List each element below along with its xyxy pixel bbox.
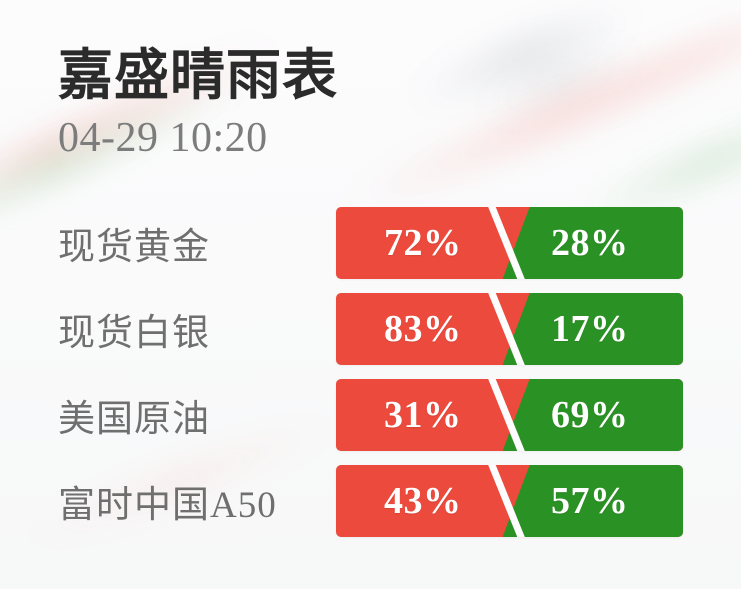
sentiment-bar[interactable]: 43% 57% xyxy=(336,465,683,537)
sentiment-bar[interactable]: 72% 28% xyxy=(336,207,683,279)
bearish-percent-value: 31% xyxy=(384,379,462,451)
list-item[interactable]: 现货黄金 72% 28% xyxy=(0,207,741,279)
page-title: 嘉盛晴雨表 xyxy=(58,44,338,108)
bullish-percent-value: 69% xyxy=(551,379,629,451)
instrument-label: 现货黄金 xyxy=(58,207,210,279)
bullish-percent-value: 57% xyxy=(551,465,629,537)
card-header: 嘉盛晴雨表 04-29 10:20 xyxy=(58,44,338,162)
bullish-percent-value: 17% xyxy=(551,293,629,365)
instrument-label: 富时中国A50 xyxy=(58,465,277,537)
instrument-label: 现货白银 xyxy=(58,293,210,365)
watermark-red-streak-icon xyxy=(335,0,741,222)
sentiment-bar[interactable]: 31% 69% xyxy=(336,379,683,451)
list-item[interactable]: 富时中国A50 43% 57% xyxy=(0,465,741,537)
list-item[interactable]: 现货白银 83% 17% xyxy=(0,293,741,365)
watermark-gray-streak-icon xyxy=(403,0,648,118)
update-timestamp: 04-29 10:20 xyxy=(58,114,338,162)
bearish-percent-value: 83% xyxy=(384,293,462,365)
bearish-percent-value: 72% xyxy=(384,207,462,279)
sentiment-barometer-card: 嘉盛晴雨表 04-29 10:20 现货黄金 72% 28% 现货白银 83% … xyxy=(0,0,741,589)
bearish-percent-value: 43% xyxy=(384,465,462,537)
watermark-gray-streak-icon xyxy=(472,37,648,127)
sentiment-bar[interactable]: 83% 17% xyxy=(336,293,683,365)
bullish-percent-value: 28% xyxy=(551,207,629,279)
instrument-sentiment-list: 现货黄金 72% 28% 现货白银 83% 17% 美国原油 31% xyxy=(0,207,741,537)
list-item[interactable]: 美国原油 31% 69% xyxy=(0,379,741,451)
instrument-label: 美国原油 xyxy=(58,379,210,451)
